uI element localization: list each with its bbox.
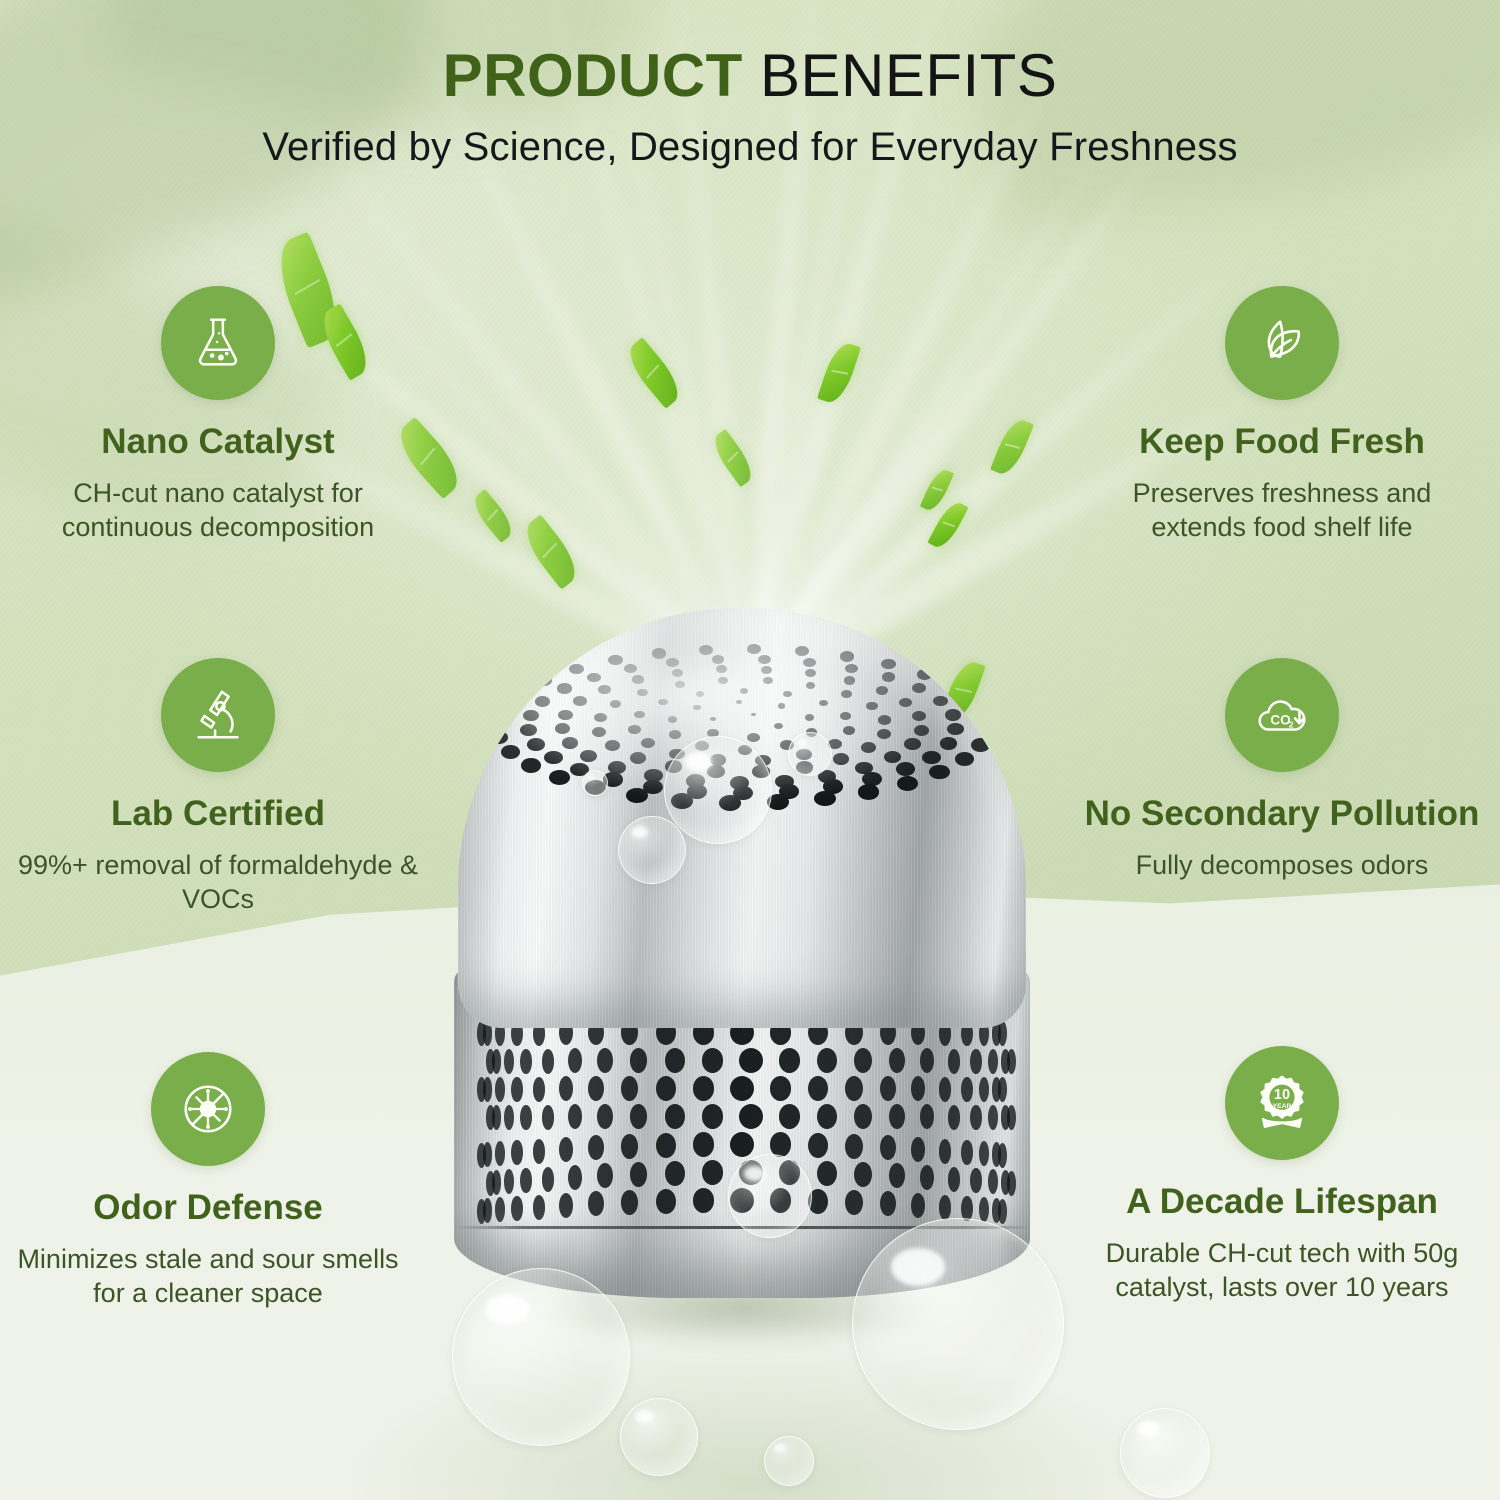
feature-odor-defense: Odor Defense Minimizes stale and sour sm… [8,1052,408,1311]
co2-cloud-down-icon: CO 2 [1225,658,1339,772]
feature-title: Keep Food Fresh [1082,422,1482,462]
feature-nano-catalyst: Nano Catalyst CH-cut nano catalyst for c… [18,286,418,545]
header: PRODUCT BENEFITS Verified by Science, De… [0,44,1500,170]
page-title: PRODUCT BENEFITS [0,44,1500,107]
title-strong: PRODUCT [443,42,743,109]
feature-a-decade-lifespan: 10 YEAR A Decade Lifespan Durable CH-cut… [1082,1046,1482,1305]
feature-description: Fully decomposes odors [1082,848,1482,883]
feature-title: A Decade Lifespan [1082,1182,1482,1222]
feature-title: Nano Catalyst [18,422,418,462]
feature-description: 99%+ removal of formaldehyde & VOCs [18,848,418,917]
feature-description: Minimizes stale and sour smells for a cl… [8,1242,408,1311]
feature-keep-food-fresh: Keep Food Fresh Preserves freshness and … [1082,286,1482,545]
co2-label: CO [1270,713,1290,728]
feature-title: No Secondary Pollution [1082,794,1482,834]
feature-title: Lab Certified [18,794,418,834]
feature-no-secondary-pollution: CO 2 No Secondary Pollution Fully decomp… [1082,658,1482,882]
page-subtitle: Verified by Science, Designed for Everyd… [0,125,1500,170]
flask-icon [161,286,275,400]
co2-subscript: 2 [1289,720,1294,730]
feature-description: Durable CH-cut tech with 50g catalyst, l… [1082,1236,1482,1305]
feature-title: Odor Defense [8,1188,408,1228]
product-image [432,608,1052,1368]
leaves-icon [1225,286,1339,400]
badge-unit: YEAR [1273,1103,1292,1110]
feature-lab-certified: Lab Certified 99%+ removal of formaldehy… [18,658,418,917]
title-light: BENEFITS [760,42,1057,109]
feature-description: CH-cut nano catalyst for continuous deco… [18,476,418,545]
feature-description: Preserves freshness and extends food she… [1082,476,1482,545]
badge-number: 10 [1274,1087,1290,1103]
ten-year-badge-icon: 10 YEAR [1225,1046,1339,1160]
microscope-icon [161,658,275,772]
no-germs-icon [151,1052,265,1166]
